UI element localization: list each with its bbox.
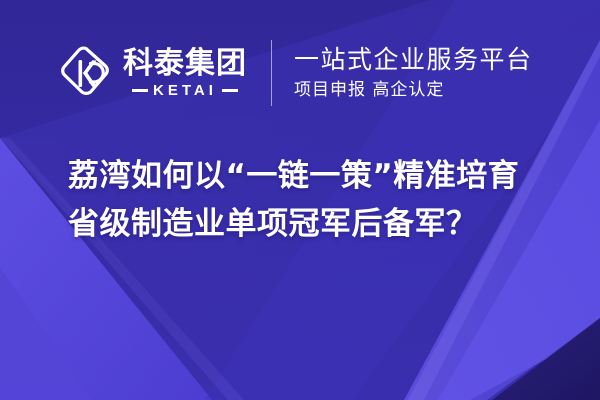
headline-line-1: 荔湾如何以“一链一策”精准培育 [68, 152, 568, 200]
brand-name-en: KETAI [153, 83, 217, 98]
headline-block: 荔湾如何以“一链一策”精准培育 省级制造业单项冠军后备军？ [68, 152, 568, 248]
banner-header: 科泰集团 KETAI 一站式企业服务平台 项目申报 高企认定 [0, 34, 600, 112]
brand-name-en-row: KETAI [123, 83, 247, 98]
headline-line-2: 省级制造业单项冠军后备军？ [68, 200, 568, 248]
brand-wordmark: 科泰集团 KETAI [123, 48, 247, 98]
ketai-diamond-kp-logo-icon [58, 45, 114, 101]
promotional-banner: 科泰集团 KETAI 一站式企业服务平台 项目申报 高企认定 荔湾如何以“一链一… [0, 0, 600, 400]
brand-name-cn: 科泰集团 [123, 48, 247, 80]
service-tagline: 一站式企业服务平台 项目申报 高企认定 [294, 45, 533, 102]
tagline-secondary: 项目申报 高企认定 [294, 78, 533, 102]
wordmark-dash-right-icon [222, 89, 238, 92]
tagline-primary: 一站式企业服务平台 [294, 45, 533, 75]
brand-logo: 科泰集团 KETAI [58, 45, 247, 101]
header-divider [271, 40, 272, 106]
wordmark-dash-left-icon [132, 89, 148, 92]
